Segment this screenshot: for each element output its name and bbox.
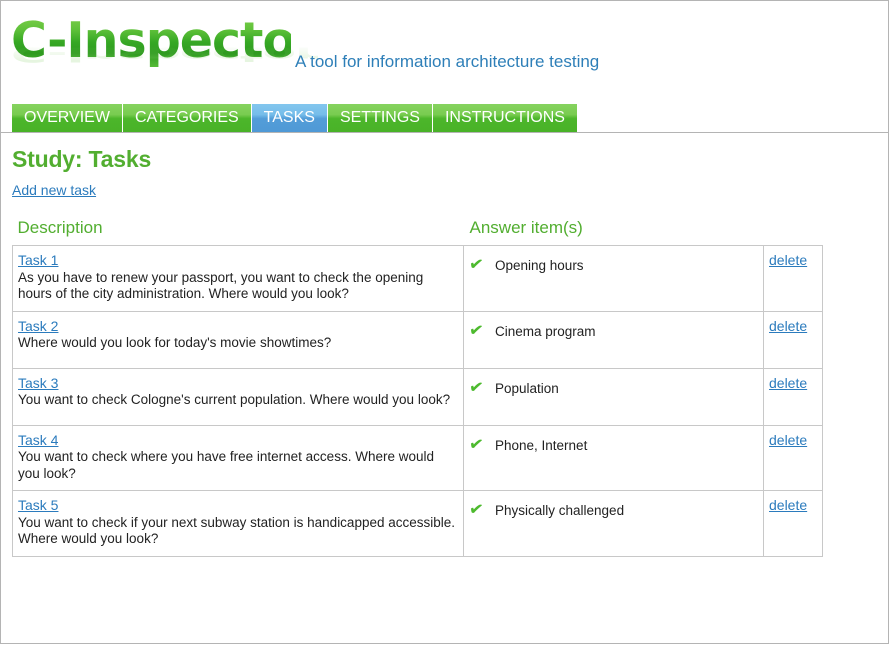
- delete-cell: delete: [764, 491, 823, 557]
- task-description: You want to check if your next subway st…: [18, 515, 456, 548]
- delete-cell: delete: [764, 425, 823, 491]
- tasks-table: Description Answer item(s) Task 1 As you…: [12, 218, 823, 557]
- task-description-cell: Task 4 You want to check where you have …: [13, 425, 464, 491]
- task-description-cell: Task 1 As you have to renew your passpor…: [13, 246, 464, 312]
- answer-item: ✔ Cinema program: [469, 318, 756, 340]
- table-row: Task 4 You want to check where you have …: [13, 425, 823, 491]
- delete-cell: delete: [764, 368, 823, 425]
- answer-item-label: Population: [495, 380, 559, 397]
- table-header-row: Description Answer item(s): [13, 218, 823, 246]
- nav-tab-settings[interactable]: SETTINGS: [328, 104, 433, 132]
- delete-task-link[interactable]: delete: [769, 432, 807, 448]
- page-header: C-Inspector C-Inspector A tool for infor…: [1, 1, 888, 93]
- answer-items-cell: ✔ Population: [464, 368, 764, 425]
- nav-tab-categories[interactable]: CATEGORIES: [123, 104, 252, 132]
- answer-item-label: Physically challenged: [495, 502, 624, 519]
- check-mark-icon: ✔: [468, 501, 487, 519]
- answer-item-label: Opening hours: [495, 257, 584, 274]
- answer-item: ✔ Phone, Internet: [469, 432, 756, 454]
- task-description-cell: Task 3 You want to check Cologne's curre…: [13, 368, 464, 425]
- page-container: C-Inspector C-Inspector A tool for infor…: [0, 0, 889, 644]
- column-header-description: Description: [13, 218, 464, 246]
- answer-items-cell: ✔ Phone, Internet: [464, 425, 764, 491]
- answer-item: ✔ Population: [469, 375, 756, 397]
- answer-items-cell: ✔ Opening hours: [464, 246, 764, 312]
- task-description: As you have to renew your passport, you …: [18, 270, 456, 303]
- add-new-task-link[interactable]: Add new task: [12, 182, 96, 198]
- answer-item: ✔ Physically challenged: [469, 497, 756, 519]
- nav-tab-overview[interactable]: OVERVIEW: [12, 104, 123, 132]
- task-link[interactable]: Task 4: [18, 432, 456, 449]
- check-mark-icon: ✔: [468, 256, 487, 274]
- check-mark-icon: ✔: [468, 435, 487, 453]
- check-mark-icon: ✔: [468, 378, 487, 396]
- task-description-cell: Task 2 Where would you look for today's …: [13, 311, 464, 368]
- answer-items-cell: ✔ Physically challenged: [464, 491, 764, 557]
- task-description: You want to check Cologne's current popu…: [18, 392, 456, 409]
- delete-task-link[interactable]: delete: [769, 252, 807, 268]
- task-link[interactable]: Task 3: [18, 375, 456, 392]
- delete-task-link[interactable]: delete: [769, 318, 807, 334]
- table-row: Task 3 You want to check Cologne's curre…: [13, 368, 823, 425]
- task-link[interactable]: Task 5: [18, 497, 456, 514]
- table-row: Task 2 Where would you look for today's …: [13, 311, 823, 368]
- logo-text: C-Inspector: [11, 15, 291, 67]
- nav-tab-tasks[interactable]: TASKS: [252, 104, 328, 132]
- delete-cell: delete: [764, 311, 823, 368]
- answer-item-label: Cinema program: [495, 323, 596, 340]
- page-title: Study: Tasks: [1, 133, 888, 173]
- table-row: Task 5 You want to check if your next su…: [13, 491, 823, 557]
- delete-cell: delete: [764, 246, 823, 312]
- check-mark-icon: ✔: [468, 321, 487, 339]
- task-description-cell: Task 5 You want to check if your next su…: [13, 491, 464, 557]
- answer-items-cell: ✔ Cinema program: [464, 311, 764, 368]
- task-description: Where would you look for today's movie s…: [18, 335, 456, 352]
- column-header-answer-items: Answer item(s): [464, 218, 764, 246]
- add-new-task-row: Add new task: [1, 173, 888, 200]
- delete-task-link[interactable]: delete: [769, 497, 807, 513]
- column-header-actions: [764, 218, 823, 246]
- tasks-table-head: Description Answer item(s): [13, 218, 823, 246]
- app-subtitle: A tool for information architecture test…: [295, 52, 599, 72]
- task-description: You want to check where you have free in…: [18, 449, 456, 482]
- task-link[interactable]: Task 2: [18, 318, 456, 335]
- tasks-table-body: Task 1 As you have to renew your passpor…: [13, 246, 823, 557]
- nav-tab-instructions[interactable]: INSTRUCTIONS: [433, 104, 577, 132]
- answer-item: ✔ Opening hours: [469, 252, 756, 274]
- task-link[interactable]: Task 1: [18, 252, 456, 269]
- main-navigation: OVERVIEW CATEGORIES TASKS SETTINGS INSTR…: [12, 104, 577, 132]
- delete-task-link[interactable]: delete: [769, 375, 807, 391]
- table-row: Task 1 As you have to renew your passpor…: [13, 246, 823, 312]
- answer-item-label: Phone, Internet: [495, 437, 587, 454]
- app-logo: C-Inspector C-Inspector: [11, 15, 291, 89]
- main-content: Study: Tasks Add new task Description An…: [1, 133, 888, 557]
